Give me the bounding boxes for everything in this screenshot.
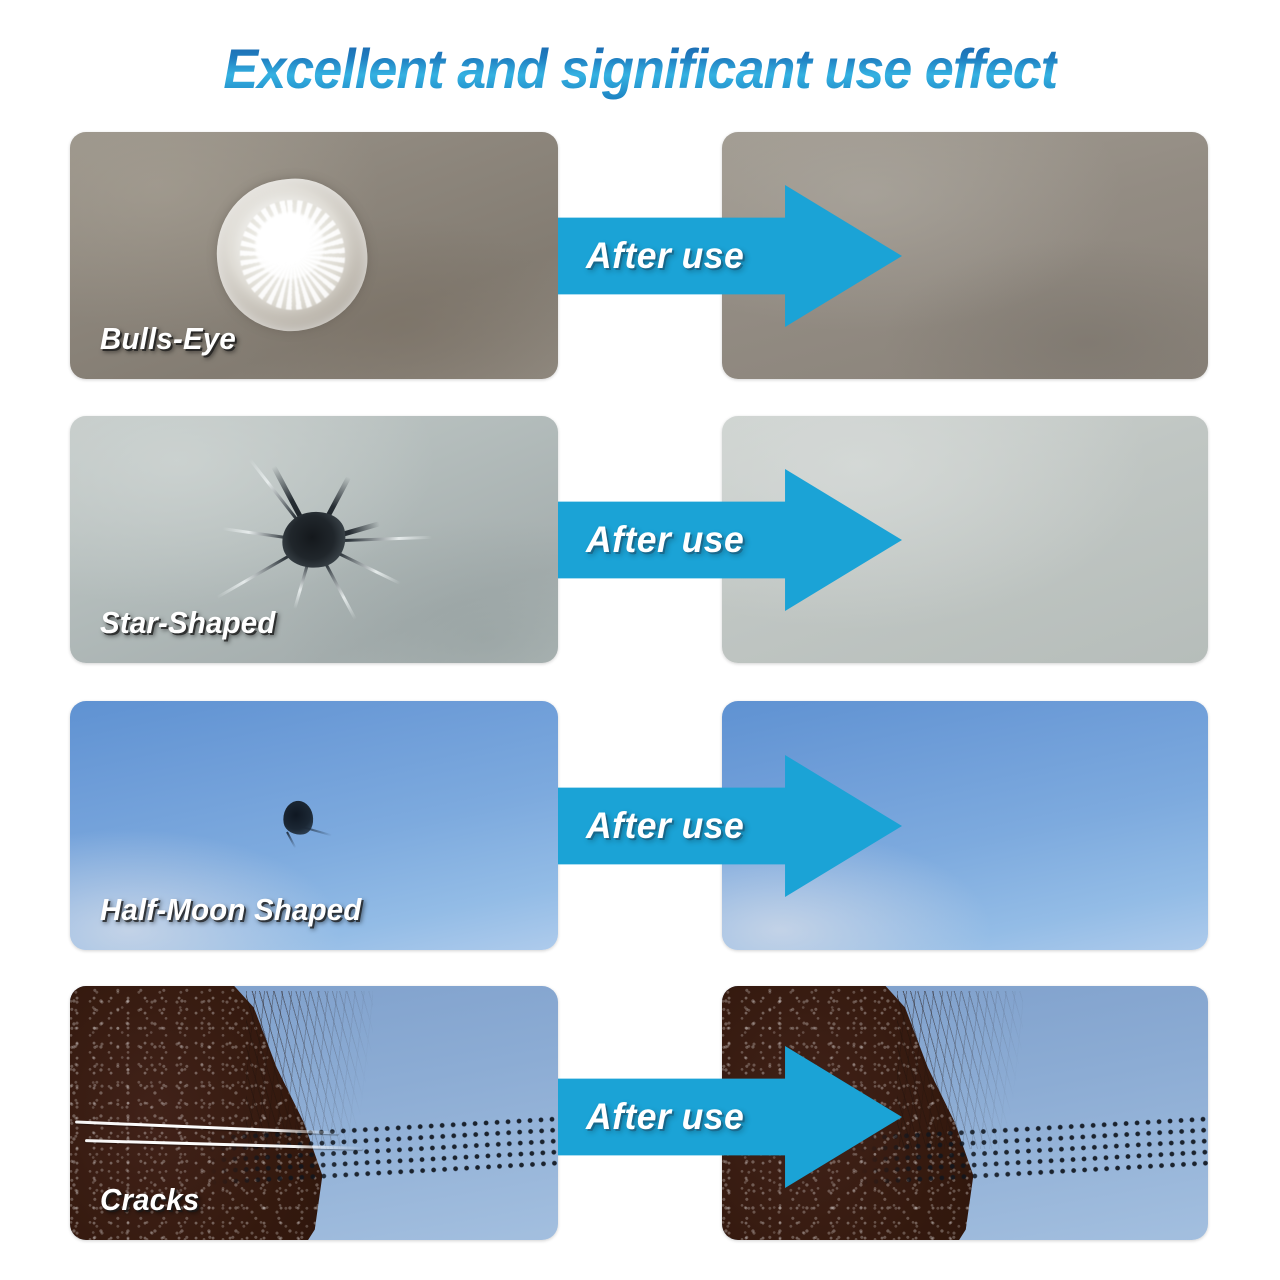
after-use-label: After use xyxy=(586,805,744,847)
after-use-arrow[interactable]: After use xyxy=(558,469,902,611)
damage-type-label: Bulls-Eye xyxy=(100,321,236,357)
damage-type-label: Half-Moon Shaped xyxy=(100,892,362,928)
damage-type-label: Star-Shaped xyxy=(100,605,276,641)
comparison-row-star-shaped: Star-Shaped After use xyxy=(70,416,1208,663)
before-panel-star-shaped[interactable]: Star-Shaped xyxy=(70,416,558,663)
comparison-row-cracks: Cracks After use xyxy=(70,986,1208,1240)
before-panel-cracks[interactable]: Cracks xyxy=(70,986,558,1240)
half-moon-damage-icon xyxy=(277,801,321,847)
comparison-grid: Bulls-Eye After use xyxy=(0,0,1280,1280)
damage-type-label: Cracks xyxy=(100,1182,199,1218)
after-use-label: After use xyxy=(586,519,744,561)
after-use-label: After use xyxy=(586,235,744,277)
before-panel-bulls-eye[interactable]: Bulls-Eye xyxy=(70,132,558,379)
after-use-label: After use xyxy=(586,1096,744,1138)
after-use-arrow[interactable]: After use xyxy=(558,1046,902,1188)
comparison-row-half-moon-shaped: Half-Moon Shaped After use xyxy=(70,701,1208,950)
comparison-row-bulls-eye: Bulls-Eye After use xyxy=(70,132,1208,379)
after-use-arrow[interactable]: After use xyxy=(558,755,902,897)
before-panel-half-moon-shaped[interactable]: Half-Moon Shaped xyxy=(70,701,558,950)
after-use-arrow[interactable]: After use xyxy=(558,185,902,327)
